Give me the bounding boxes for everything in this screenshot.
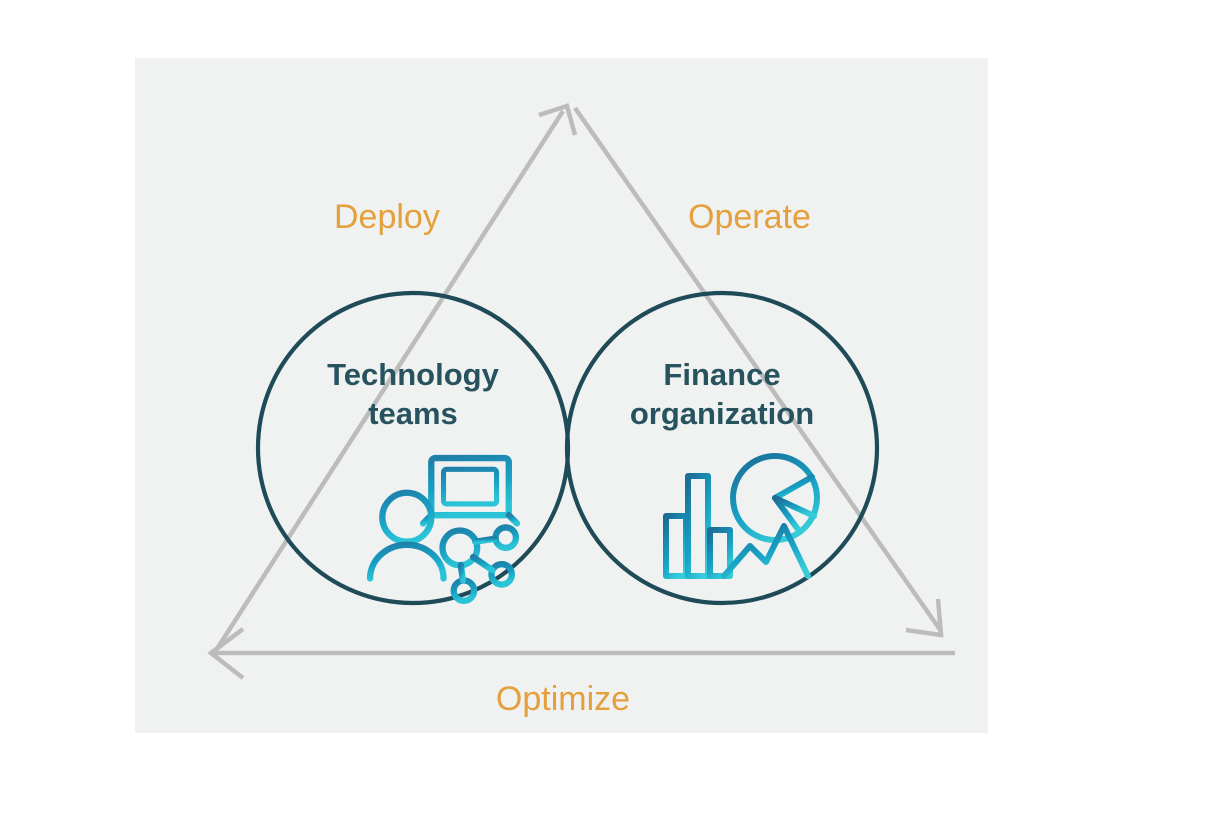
cycle-label-deploy: Deploy [334,198,440,236]
cycle-label-operate: Operate [688,198,811,236]
person-laptop-network-icon [370,458,517,601]
cycle-label-optimize: Optimize [496,680,630,718]
diagram-panel: Deploy Operate Optimize Technology teams [135,58,988,733]
circle-finance-organization[interactable]: Finance organization [567,293,877,603]
technology-teams-circle-outline [258,293,568,603]
finance-organization-label-line1: Finance [663,357,780,392]
technology-teams-label-line2: teams [368,396,458,431]
diagram-stage: Deploy Operate Optimize Technology teams [0,0,1215,831]
circle-technology-teams[interactable]: Technology teams [258,293,568,603]
finance-organization-label-line2: organization [630,396,814,431]
optimize-arrow [211,629,955,678]
bar-pie-area-chart-icon [666,456,817,576]
cycle-diagram: Deploy Operate Optimize Technology teams [135,58,988,733]
technology-teams-label-line1: Technology [327,357,499,392]
finance-organization-circle-outline [567,293,877,603]
